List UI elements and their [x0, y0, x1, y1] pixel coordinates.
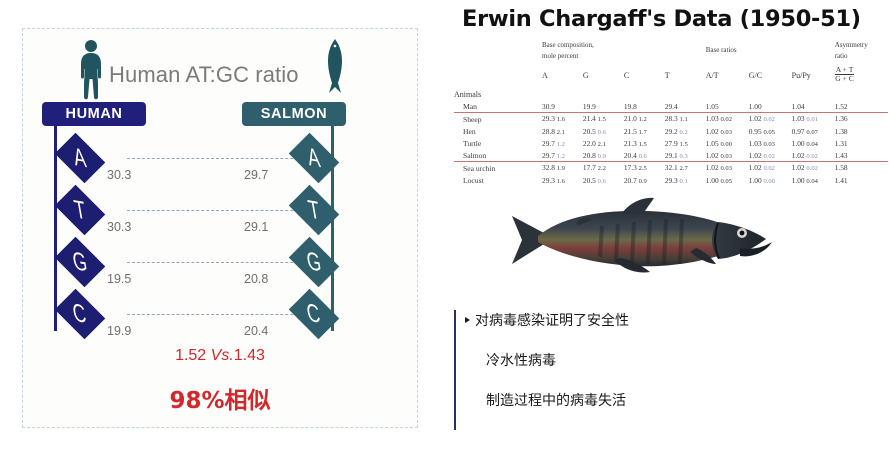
cell-error: 1.5: [639, 141, 647, 148]
bullet-item-2: 制造过程中的病毒失活: [486, 394, 626, 408]
diamond-human-base: A: [55, 133, 105, 183]
cell-value: 1.02: [792, 163, 805, 172]
cell-error: 0.02: [763, 165, 775, 172]
cell-value: 0.97: [792, 127, 805, 136]
diamond-salmon-base: A: [289, 133, 339, 183]
cell-error: 0.01: [806, 116, 818, 123]
base-pair-row: T T 30.3 29.1: [23, 184, 417, 238]
cell-value: 21.0: [624, 114, 637, 123]
at-gc-ratio-panel: Human AT:GC ratio HUMAN SALMON A A 30.3 …: [22, 28, 418, 428]
value-salmon: 20.4: [244, 324, 268, 338]
cell-value: 1.00: [749, 176, 762, 185]
row-label: Turtle: [454, 138, 542, 150]
salmon-fish-icon: [323, 37, 347, 97]
cell-error: 2.5: [639, 165, 647, 172]
cell-error: 0.02: [763, 116, 775, 123]
cell-value: 1.00: [792, 176, 805, 185]
page-title: Human AT:GC ratio: [109, 62, 299, 88]
cell-value: 21.3: [624, 139, 637, 148]
cell-value: 1.00: [749, 102, 762, 111]
ratio-comparison: 1.52 Vs.1.43: [23, 347, 417, 365]
cell-value: 20.4: [624, 151, 637, 160]
cell-error: 1.2: [639, 116, 647, 123]
column-header-PuPy: Pu/Py: [792, 66, 835, 89]
cell-value: 0.95: [749, 127, 762, 136]
cell-value: 1.02: [706, 163, 719, 172]
cell-error: 1.9: [557, 165, 565, 172]
cell-value: 1.02: [706, 151, 719, 160]
cell-error: 2.7: [680, 165, 688, 172]
value-human: 30.3: [107, 220, 131, 234]
cell-error: 0.02: [763, 153, 775, 160]
cell-error: 0.05: [763, 129, 775, 136]
row-label: Sea urchin: [454, 162, 542, 174]
species-badge-salmon: SALMON: [242, 102, 346, 126]
cell-error: 0.03: [720, 153, 732, 160]
diamond-salmon-base: G: [289, 237, 339, 287]
cell-error: 0.2: [680, 129, 688, 136]
cell-value: 29.3: [665, 176, 678, 185]
row-label: Sheep: [454, 113, 542, 125]
cell-value: 22.0: [583, 139, 596, 148]
connector-line: [127, 210, 313, 211]
group-header-base-composition: Base composition, mole percent: [542, 40, 706, 66]
diamond-salmon-base: T: [289, 185, 339, 235]
column-header-C: C: [624, 66, 665, 89]
base-letter: T: [72, 196, 87, 223]
cell-error: 1.7: [639, 129, 647, 136]
cell-value: 1.00: [706, 176, 719, 185]
table-row-header-animals: Animals: [454, 89, 888, 101]
cell-value: 21.5: [624, 127, 637, 136]
base-pair-row: C C 19.9 20.4: [23, 288, 417, 342]
triangle-bullet-icon: [465, 317, 470, 323]
diamond-human-base: T: [55, 185, 105, 235]
column-header-GC: G/C: [749, 66, 792, 89]
ratio-salmon-value: 1.43: [234, 347, 265, 364]
cell-value: 1.02: [749, 114, 762, 123]
cell-value: 1.05: [706, 139, 719, 148]
cell-error: 0.02: [720, 116, 732, 123]
chum-salmon-photo: [504, 186, 779, 286]
cell-value: 20.8: [583, 151, 596, 160]
cell-error: 0.3: [680, 153, 688, 160]
cell-value: 28.8: [542, 127, 555, 136]
cell-asymmetry: 1.41: [835, 176, 848, 185]
column-header-G: G: [583, 66, 624, 89]
cell-error: 0.02: [806, 165, 818, 172]
cell-value: 1.02: [706, 127, 719, 136]
cell-value: 29.2: [665, 127, 678, 136]
value-human: 19.5: [107, 272, 131, 286]
cell-error: 0.07: [806, 129, 818, 136]
cell-value: 29.7: [542, 151, 555, 160]
slide-title: Erwin Chargaff's Data (1950-51): [462, 6, 861, 32]
bullet-text: 对病毒感染证明了安全性: [475, 313, 629, 329]
table-row: Sea urchin 32.8 1.9 17.7 2.2 17.3 2.5 32…: [454, 162, 888, 174]
cell-value: 27.9: [665, 139, 678, 148]
cell-value: 29.1: [665, 151, 678, 160]
bullet-item-1: 冷水性病毒: [486, 354, 556, 368]
cell-error: 2.2: [598, 165, 606, 172]
value-human: 30.3: [107, 168, 131, 182]
cell-error: 1.2: [557, 141, 565, 148]
cell-value: 1.00: [792, 139, 805, 148]
cell-asymmetry: 1.43: [835, 151, 848, 160]
cell-value: 29.7: [542, 139, 555, 148]
cell-value: 29.3: [542, 114, 555, 123]
cell-error: 0.03: [720, 165, 732, 172]
cell-asymmetry: 1.52: [835, 102, 848, 111]
human-silhouette-icon: [78, 39, 104, 101]
chargaff-data-table: Base composition, mole percent Base rati…: [454, 40, 888, 175]
table-row: Sheep 29.3 1.6 21.4 1.5 21.0 1.2 28.3 1.…: [454, 113, 888, 125]
column-header-T: T: [665, 66, 706, 89]
cell-error: 1.1: [680, 116, 688, 123]
base-letter: G: [71, 248, 89, 276]
cell-error: 2.1: [557, 129, 565, 136]
table-row: Locust 29.3 1.6 20.5 0.6 20.7 0.9 29.3 0…: [454, 175, 888, 187]
diamond-human-base: C: [55, 289, 105, 339]
connector-line: [127, 314, 313, 315]
cell-value: 32.8: [542, 163, 555, 172]
cell-error: 0.03: [720, 129, 732, 136]
cell-value: 1.03: [749, 139, 762, 148]
cell-error: 1.5: [680, 141, 688, 148]
group-header-asymmetry-ratio: Asymmetry ratio: [835, 40, 888, 66]
cell-value: 30.9: [542, 102, 555, 111]
table-row: Man 30.9 19.9 19.8 29.4 1.05 1.00 1.04 1…: [454, 101, 888, 113]
base-letter: C: [305, 300, 322, 328]
row-label: Salmon: [454, 150, 542, 162]
table-column-header-row: A G C T A/T G/C Pu/Py A + T G + C: [454, 66, 888, 89]
cell-error: 0.00: [763, 178, 775, 185]
table-row: Turtle 29.7 1.2 22.0 2.1 21.3 1.5 27.9 1…: [454, 138, 888, 150]
base-letter: A: [72, 144, 88, 172]
column-header-A: A: [542, 66, 583, 89]
cell-error: 0.6: [598, 178, 606, 185]
value-human: 19.9: [107, 324, 131, 338]
cell-value: 19.9: [583, 102, 596, 111]
cell-value: 1.03: [706, 114, 719, 123]
cell-error: 2.1: [598, 141, 606, 148]
ratio-human-value: 1.52: [175, 347, 206, 364]
group-header-base-ratios: Base ratios: [706, 40, 835, 66]
cell-value: 21.4: [583, 114, 596, 123]
cell-error: 0.1: [680, 178, 688, 185]
cell-value: 32.1: [665, 163, 678, 172]
cell-error: 0.04: [806, 141, 818, 148]
cell-error: 0.04: [806, 178, 818, 185]
base-pair-row: G G 19.5 20.8: [23, 236, 417, 290]
diamond-salmon-base: C: [289, 289, 339, 339]
value-salmon: 29.1: [244, 220, 268, 234]
cell-error: 1.6: [557, 116, 565, 123]
cell-error: 1.2: [557, 153, 565, 160]
cell-value: 19.8: [624, 102, 637, 111]
chargaff-slide: Erwin Chargaff's Data (1950-51) Base com…: [452, 0, 890, 459]
cell-error: 1.5: [598, 116, 606, 123]
species-badge-human: HUMAN: [42, 102, 146, 126]
cell-value: 29.3: [542, 176, 555, 185]
table-row: Salmon 29.7 1.2 20.8 0.9 20.4 0.6 29.1 0…: [454, 150, 888, 162]
cell-value: 28.3: [665, 114, 678, 123]
cell-error: 0.6: [639, 153, 647, 160]
cell-error: 0.9: [639, 178, 647, 185]
diamond-human-base: G: [55, 237, 105, 287]
cell-value: 1.03: [792, 114, 805, 123]
cell-value: 1.04: [792, 102, 805, 111]
row-header-animals: Animals: [454, 89, 542, 101]
base-letter: G: [305, 248, 323, 276]
row-label: Man: [454, 101, 542, 113]
table-group-header-row: Base composition, mole percent Base rati…: [454, 40, 888, 66]
value-salmon: 29.7: [244, 168, 268, 182]
cell-error: 0.9: [598, 153, 606, 160]
similarity-callout: 98%相似: [23, 381, 417, 415]
column-header-asymmetry-fraction: A + T G + C: [835, 66, 888, 89]
base-letter: A: [306, 144, 322, 172]
connector-line: [127, 158, 313, 159]
cell-asymmetry: 1.36: [835, 114, 848, 123]
cell-error: 0.02: [806, 153, 818, 160]
table-row: Hen 28.8 2.1 20.5 0.6 21.5 1.7 29.2 0.2 …: [454, 126, 888, 138]
cell-value: 1.05: [706, 102, 719, 111]
value-salmon: 20.8: [244, 272, 268, 286]
cell-value: 20.5: [583, 176, 596, 185]
cell-error: 0.05: [720, 178, 732, 185]
cell-error: 0.6: [598, 129, 606, 136]
cell-error: 0.00: [720, 141, 732, 148]
cell-asymmetry: 1.38: [835, 127, 848, 136]
cell-value: 29.4: [665, 102, 678, 111]
cell-error: 0.03: [763, 141, 775, 148]
row-label: Hen: [454, 126, 542, 138]
base-letter: T: [306, 196, 321, 223]
cell-error: 1.6: [557, 178, 565, 185]
row-label: Locust: [454, 175, 542, 187]
cell-asymmetry: 1.58: [835, 163, 848, 172]
cell-value: 1.02: [749, 163, 762, 172]
cell-value: 1.02: [749, 151, 762, 160]
vs-label: Vs.: [211, 347, 234, 364]
base-letter: C: [71, 300, 88, 328]
cell-value: 20.7: [624, 176, 637, 185]
cell-value: 20.5: [583, 127, 596, 136]
cell-value: 1.02: [792, 151, 805, 160]
bullet-list: 对病毒感染证明了安全性 冷水性病毒 制造过程中的病毒失活: [454, 310, 884, 430]
column-header-AT: A/T: [706, 66, 749, 89]
cell-value: 17.7: [583, 163, 596, 172]
cell-asymmetry: 1.31: [835, 139, 848, 148]
cell-value: 17.3: [624, 163, 637, 172]
bullet-item-0: 对病毒感染证明了安全性: [465, 314, 629, 328]
base-pair-row: A A 30.3 29.7: [23, 132, 417, 186]
connector-line: [127, 262, 313, 263]
